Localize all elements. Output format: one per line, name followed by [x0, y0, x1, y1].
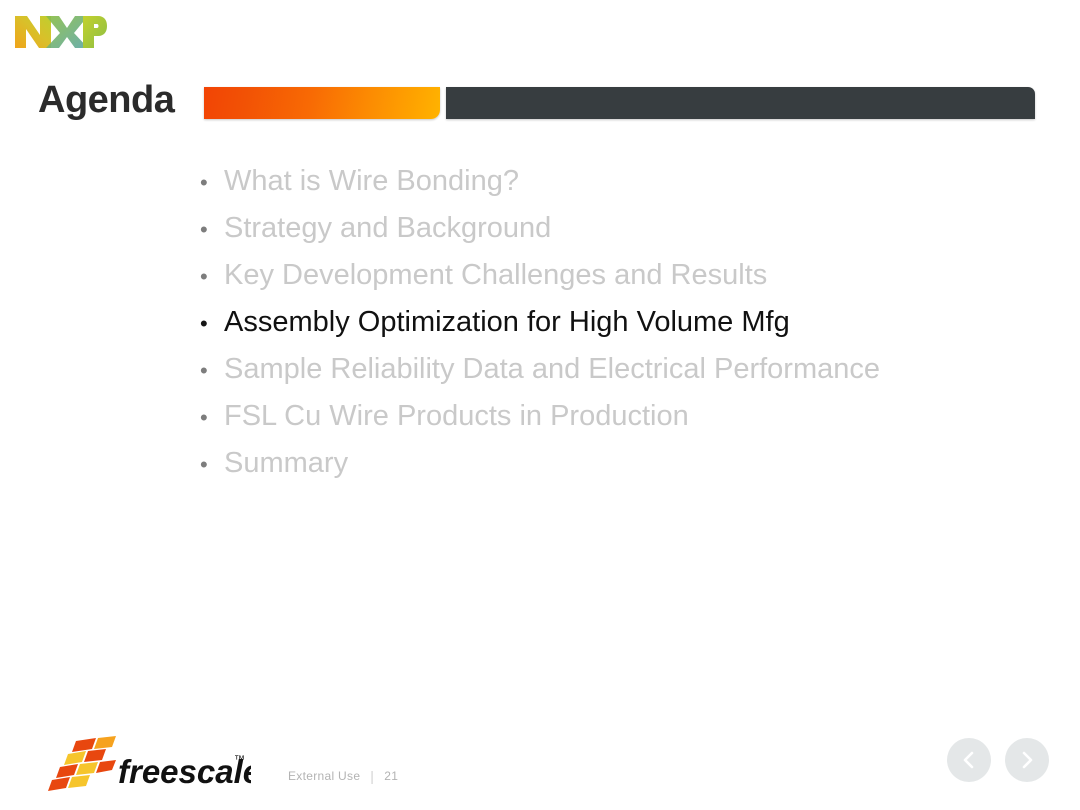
agenda-item[interactable]: • Sample Reliability Data and Electrical… — [200, 346, 1040, 393]
bullet-icon: • — [200, 159, 224, 206]
title-accent-bar-orange — [204, 87, 440, 119]
agenda-item[interactable]: • Summary — [200, 440, 1040, 487]
slide-title-row: Agenda — [0, 78, 1080, 128]
freescale-logo-mark: freescale ™ — [46, 735, 251, 793]
previous-slide-button[interactable] — [947, 738, 991, 782]
freescale-logo: freescale ™ — [46, 735, 251, 793]
chevron-right-icon — [1017, 750, 1037, 770]
nxp-logo-mark — [14, 13, 108, 51]
bullet-icon: • — [200, 300, 224, 347]
agenda-item-label: FSL Cu Wire Products in Production — [224, 393, 689, 440]
nxp-logo — [14, 13, 108, 51]
bullet-icon: • — [200, 347, 224, 394]
next-slide-button[interactable] — [1005, 738, 1049, 782]
freescale-wordmark: freescale — [118, 753, 251, 790]
title-accent-bar-dark — [446, 87, 1035, 119]
freescale-chevron-icon — [48, 736, 116, 791]
footer-meta: External Use | 21 — [288, 768, 398, 784]
page-number: 21 — [384, 769, 398, 783]
agenda-item-label: Assembly Optimization for High Volume Mf… — [224, 299, 790, 346]
agenda-item[interactable]: • FSL Cu Wire Products in Production — [200, 393, 1040, 440]
agenda-item[interactable]: • Strategy and Background — [200, 205, 1040, 252]
trademark-symbol: ™ — [234, 754, 245, 766]
agenda-item-label: What is Wire Bonding? — [224, 158, 519, 205]
page-title: Agenda — [38, 75, 174, 125]
agenda-item-label: Key Development Challenges and Results — [224, 252, 767, 299]
bullet-icon: • — [200, 441, 224, 488]
agenda-item-label: Summary — [224, 440, 348, 487]
usage-label: External Use — [288, 769, 360, 783]
agenda-list: • What is Wire Bonding? • Strategy and B… — [200, 158, 1040, 487]
bullet-icon: • — [200, 253, 224, 300]
agenda-item[interactable]: • Key Development Challenges and Results — [200, 252, 1040, 299]
bullet-icon: • — [200, 206, 224, 253]
bullet-icon: • — [200, 394, 224, 441]
agenda-item[interactable]: • What is Wire Bonding? — [200, 158, 1040, 205]
agenda-item-label: Strategy and Background — [224, 205, 551, 252]
agenda-item-active[interactable]: • Assembly Optimization for High Volume … — [200, 299, 1040, 346]
chevron-left-icon — [959, 750, 979, 770]
agenda-item-label: Sample Reliability Data and Electrical P… — [224, 346, 880, 393]
footer-separator: | — [370, 768, 374, 784]
